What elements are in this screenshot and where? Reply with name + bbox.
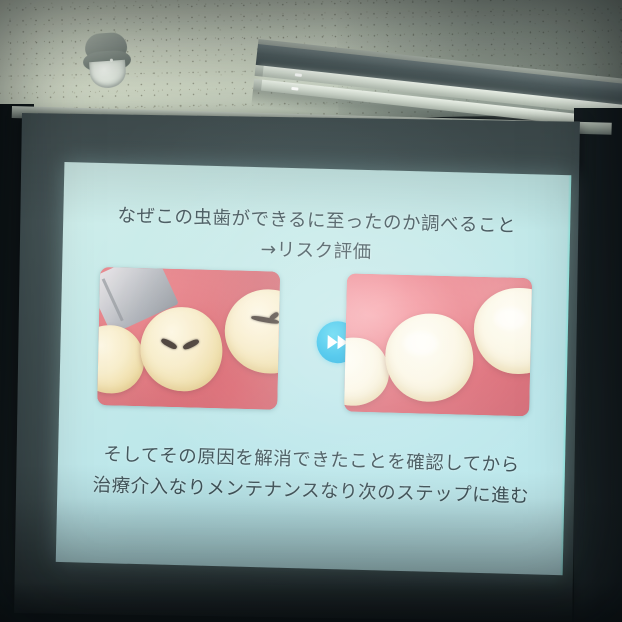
- tube-highlight: [291, 87, 298, 91]
- screen-vignette: [14, 113, 580, 622]
- tube-end-cap: [253, 79, 262, 91]
- room-floor-shadow: [0, 582, 622, 622]
- photo-scene: なぜこの虫歯ができるに至ったのか調べること →リスク評価: [0, 0, 622, 622]
- tube-highlight: [295, 73, 302, 77]
- wall-right-dark: [574, 108, 622, 622]
- smoke-detector-icon: [81, 31, 133, 90]
- projection-screen: なぜこの虫歯ができるに至ったのか調べること →リスク評価: [14, 113, 580, 622]
- tube-end-cap: [255, 65, 264, 77]
- detector-lens: [89, 60, 127, 89]
